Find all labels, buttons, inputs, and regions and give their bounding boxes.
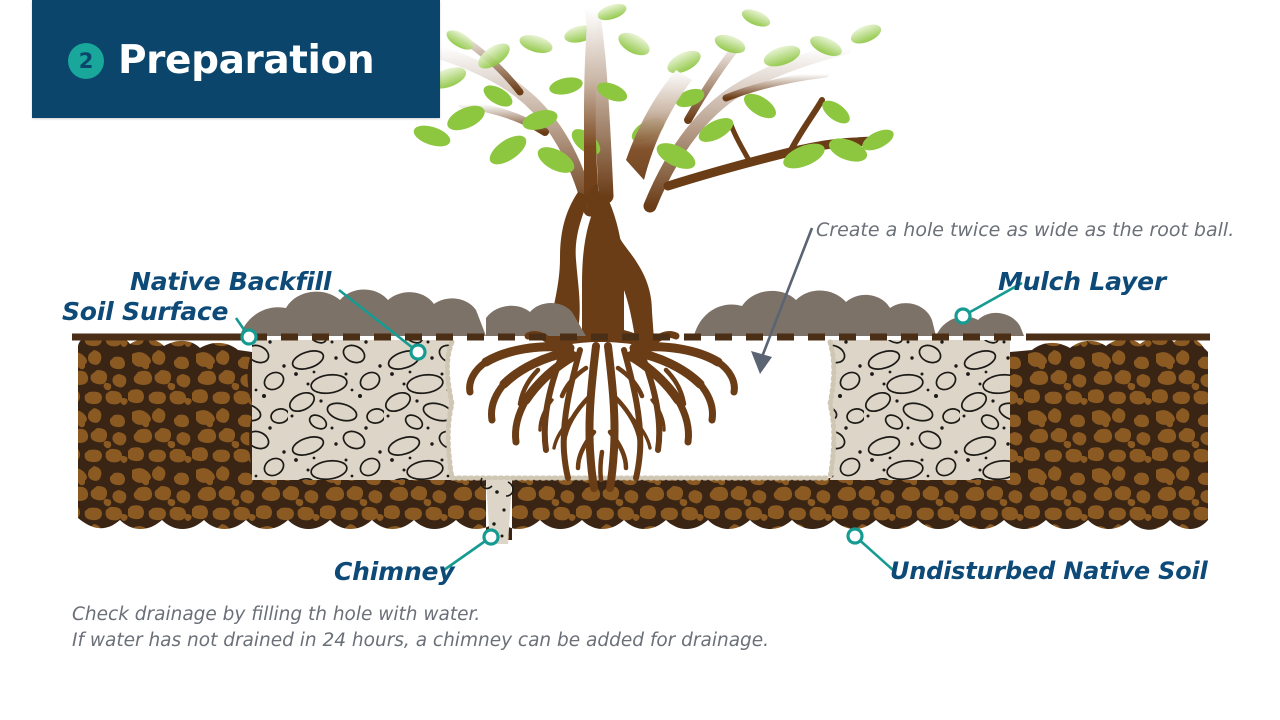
- endpoint-chimney: [484, 530, 498, 544]
- footnote-block: Check drainage by filling th hole with w…: [72, 602, 769, 654]
- endpoint-undisturbed: [848, 529, 862, 543]
- page-title: Preparation: [118, 38, 374, 83]
- endpoint-mulch-layer: [956, 309, 970, 323]
- diagram-stage: 2 Preparation Native Backfill Soil Surfa…: [0, 0, 1280, 720]
- label-soil-surface: Soil Surface: [62, 297, 228, 326]
- label-chimney: Chimney: [334, 557, 454, 586]
- step-banner: 2 Preparation: [32, 0, 440, 118]
- endpoint-native-backfill: [411, 345, 425, 359]
- footnote-line-2: If water has not drained in 24 hours, a …: [72, 628, 769, 654]
- step-number-badge: 2: [68, 43, 104, 79]
- footnote-line-1: Check drainage by filling th hole with w…: [72, 602, 769, 628]
- endpoint-soil-surface: [242, 330, 256, 344]
- note-hole-width: Create a hole twice as wide as the root …: [816, 219, 1234, 241]
- tree-trunk: [536, 10, 692, 352]
- root-ball: [470, 335, 735, 488]
- label-native-backfill: Native Backfill: [130, 267, 331, 296]
- label-undisturbed-native-soil: Undisturbed Native Soil: [890, 557, 1208, 585]
- label-mulch-layer: Mulch Layer: [998, 267, 1166, 296]
